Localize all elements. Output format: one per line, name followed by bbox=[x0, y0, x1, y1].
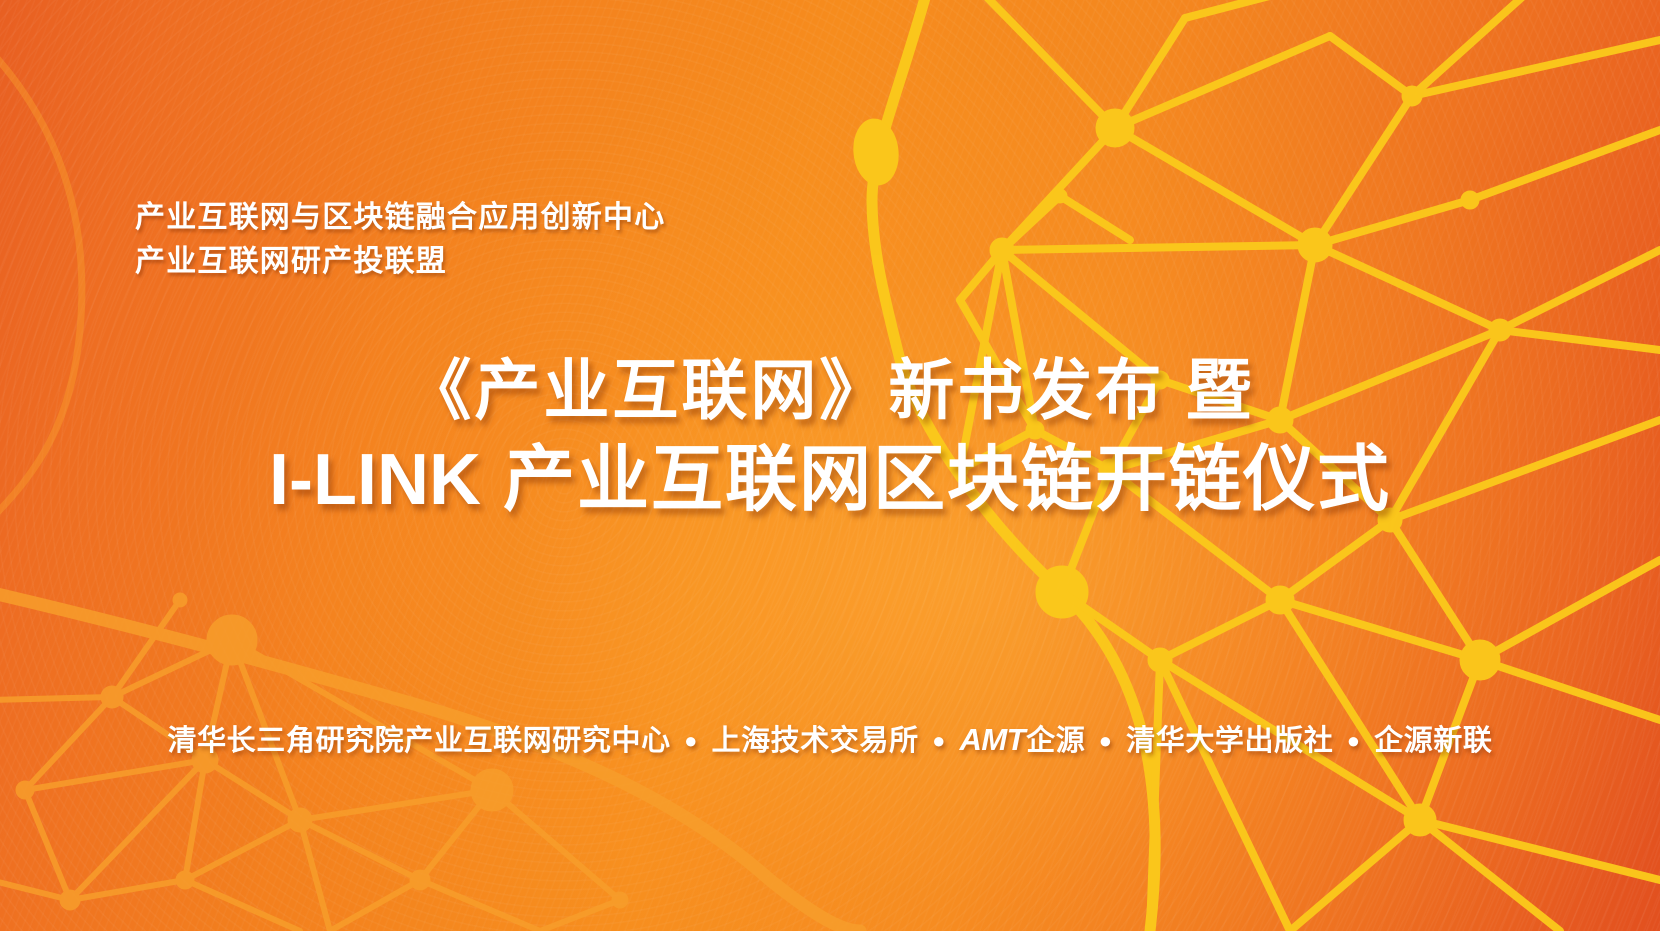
title-brand-ilink: I-LINK bbox=[269, 440, 481, 520]
title-line-2: I-LINK 产业互联网区块链开链仪式 bbox=[0, 434, 1660, 526]
title-line-2-cn: 产业互联网区块链开链仪式 bbox=[503, 440, 1391, 520]
partner-separator-1: ● bbox=[675, 728, 707, 753]
partner-separator-4: ● bbox=[1338, 728, 1370, 753]
organizer-line-1: 产业互联网与区块链融合应用创新中心 bbox=[135, 196, 665, 240]
organizer-block: 产业互联网与区块链融合应用创新中心 产业互联网研产投联盟 bbox=[135, 196, 665, 284]
title-line-1: 《产业互联网》新书发布 暨 bbox=[0, 346, 1660, 434]
partner-separator-2: ● bbox=[923, 728, 955, 753]
partner-item-1: 清华长三角研究院产业互联网研究中心 bbox=[167, 725, 670, 757]
organizer-line-2: 产业互联网研产投联盟 bbox=[135, 240, 665, 284]
page-title: 《产业互联网》新书发布 暨 I-LINK 产业互联网区块链开链仪式 bbox=[0, 346, 1660, 526]
partner-list: 清华长三角研究院产业互联网研究中心 ● 上海技术交易所 ● AMT企源 ● 清华… bbox=[0, 717, 1660, 759]
partner-item-5: 企源新联 bbox=[1374, 725, 1492, 757]
event-poster: 产业互联网与区块链融合应用创新中心 产业互联网研产投联盟 《产业互联网》新书发布… bbox=[0, 0, 1660, 931]
partner-item-2: 上海技术交易所 bbox=[711, 725, 918, 757]
partner-item-amt-cn: 企源 bbox=[1026, 725, 1085, 757]
partner-item-amt-logo: AMT bbox=[959, 722, 1026, 757]
partner-separator-3: ● bbox=[1090, 728, 1122, 753]
partner-item-4: 清华大学出版社 bbox=[1126, 725, 1333, 757]
